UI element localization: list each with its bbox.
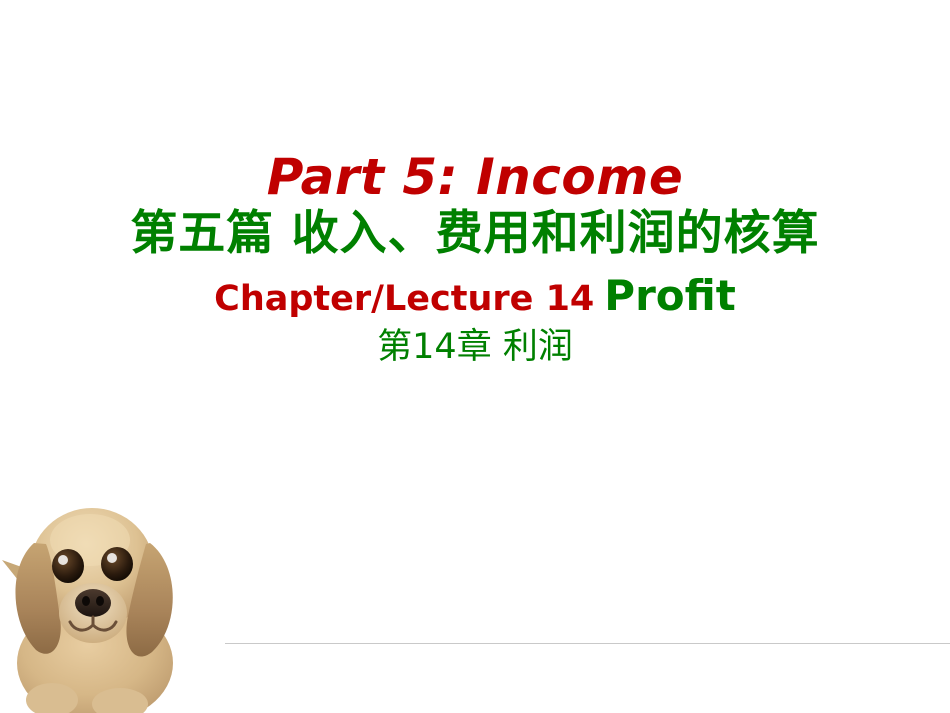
slide-canvas: Part 5: Income 第五篇 收入、费用和利润的核算 Chapter/L… — [0, 0, 950, 713]
chapter-title-line: Chapter/Lecture 14Profit — [0, 273, 950, 319]
chapter-keyword-profit: Profit — [604, 271, 736, 320]
part-title-english: Part 5: Income — [0, 150, 950, 204]
part-title-chinese: 第五篇 收入、费用和利润的核算 — [0, 206, 950, 261]
chapter-title-english: Chapter/Lecture 14 — [214, 279, 594, 319]
title-block: Part 5: Income 第五篇 收入、费用和利润的核算 Chapter/L… — [0, 150, 950, 366]
horizontal-rule — [225, 643, 950, 644]
dachshund-puppy-photo — [0, 448, 210, 713]
chapter-title-chinese: 第14章 利润 — [0, 328, 950, 367]
